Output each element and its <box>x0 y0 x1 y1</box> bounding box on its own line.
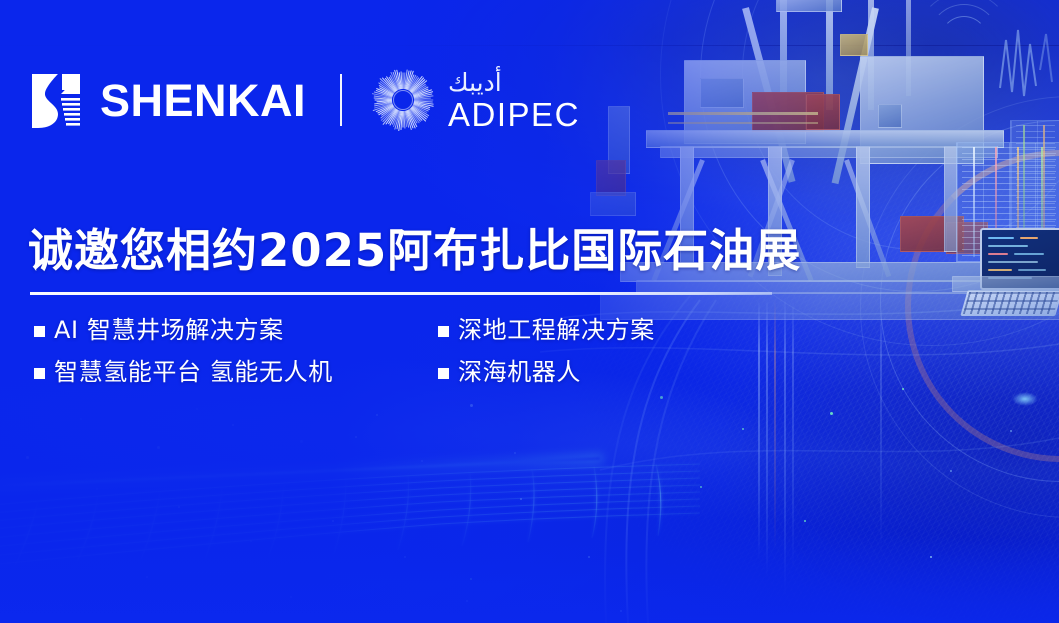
adipec-logo-lockup: أديبك ADIPEC <box>372 69 580 131</box>
feature-row: AI 智慧井场解决方案 深地工程解决方案 <box>34 315 734 345</box>
bullet-square-icon <box>34 326 45 337</box>
feature-item: 深地工程解决方案 <box>438 315 734 345</box>
feature-item: 深海机器人 <box>438 357 734 387</box>
feature-item: AI 智慧井场解决方案 <box>34 315 438 345</box>
feature-list: AI 智慧井场解决方案 深地工程解决方案 智慧氢能平台 氢能无人机 深海机器人 <box>34 315 734 399</box>
adipec-latin-text: ADIPEC <box>448 98 580 131</box>
promotional-banner: SHENKAI أديبك ADIPEC 诚邀您相约2025阿布扎比国际石油展 <box>0 0 1059 623</box>
banner-content: SHENKAI أديبك ADIPEC 诚邀您相约2025阿布扎比国际石油展 <box>0 0 1059 623</box>
adipec-text-block: أديبك ADIPEC <box>448 70 580 131</box>
feature-item: 智慧氢能平台 氢能无人机 <box>34 357 438 387</box>
adipec-radial-burst-icon <box>372 69 434 131</box>
shenkai-wordmark: SHENKAI <box>100 78 306 123</box>
feature-label: AI 智慧井场解决方案 <box>54 315 284 345</box>
bullet-square-icon <box>438 368 449 379</box>
bullet-square-icon <box>34 368 45 379</box>
feature-label: 智慧氢能平台 氢能无人机 <box>54 357 333 387</box>
page-title: 诚邀您相约2025阿布扎比国际石油展 <box>28 226 801 276</box>
bullet-square-icon <box>438 326 449 337</box>
logo-divider <box>340 74 342 126</box>
shenkai-logo-mark <box>28 70 84 130</box>
headline-divider-rule <box>30 292 772 295</box>
feature-label: 深海机器人 <box>458 357 581 387</box>
logo-row: SHENKAI أديبك ADIPEC <box>28 62 580 138</box>
adipec-arabic-text: أديبك <box>448 70 502 95</box>
feature-row: 智慧氢能平台 氢能无人机 深海机器人 <box>34 357 734 387</box>
feature-label: 深地工程解决方案 <box>458 315 655 345</box>
